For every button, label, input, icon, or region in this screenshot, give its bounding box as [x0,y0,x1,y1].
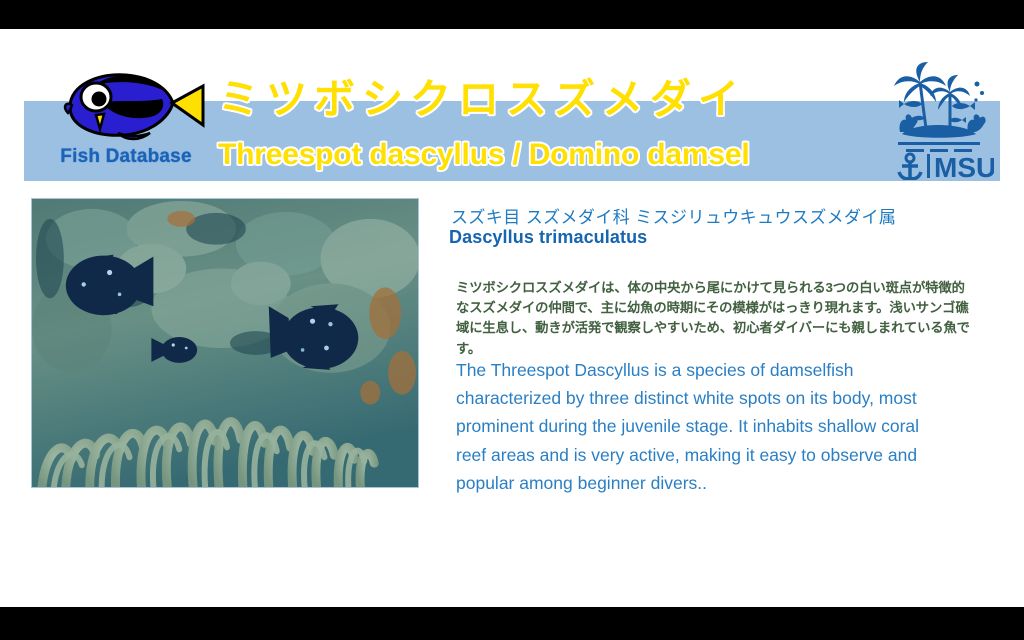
slide-canvas: Fish Database ミツボシクロスズメダイ Threespot dasc… [0,29,1024,607]
fish-photo [31,198,419,488]
species-scientific-name: Dascyllus trimaculatus [449,227,969,248]
description-english: The Threespot Dascyllus is a species of … [456,356,946,497]
page-title-japanese: ミツボシクロスズメダイ [218,78,878,121]
page-title-english: Threespot dascyllus / Domino damsel [218,139,918,171]
fish-database-logo-icon [40,59,210,147]
svg-text:MSU: MSU [934,152,994,180]
fish-database-caption: Fish Database [36,146,216,168]
letterbox-top [0,0,1024,28]
letterbox-bottom [0,608,1024,640]
presentation-window: Fish Database ミツボシクロスズメダイ Threespot dasc… [0,0,1024,640]
description-japanese: ミツボシクロスズメダイは、体の中央から尾にかけて見られる3つの白い斑点が特徴的な… [456,278,976,359]
taxonomy-line: スズキ目 スズメダイ科 ミスジリュウキュウスズメダイ属 [451,203,971,228]
msu-logo: MSU [884,60,994,180]
